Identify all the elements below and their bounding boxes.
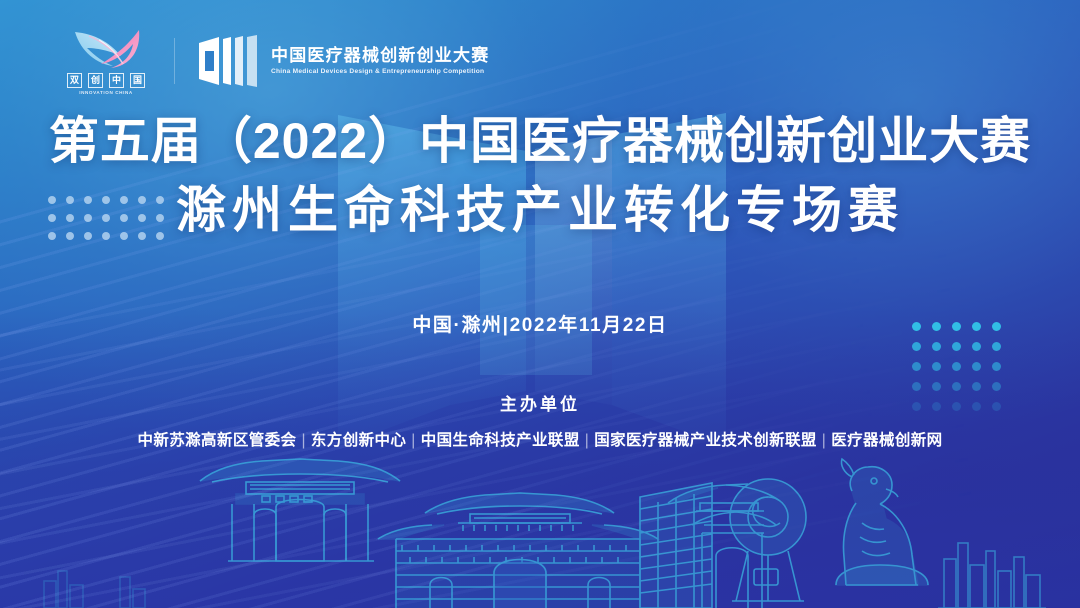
competition-logo: 中国医疗器械创新创业大赛 China Medical Devices Desig… [197,35,489,87]
event-date-location: 中国·滁州|2022年11月22日 [0,310,1080,337]
chinese-archway [668,484,780,608]
organizer-item: 中新苏滁高新区管委会 [137,432,296,449]
city-skyline-illustration [0,433,1080,608]
grid-dot [932,342,941,351]
grid-dot [912,362,921,371]
grid-dot [972,342,981,351]
innovation-china-en: INNOVATION CHINA [79,90,133,95]
chinese-city-gate [378,493,658,608]
competition-en-title: China Medical Devices Design & Entrepren… [271,68,489,75]
background-shade-bottom [0,308,1080,608]
organizer-item: 国家医疗器械产业技术创新联盟 [594,432,817,449]
competition-logo-text: 中国医疗器械创新创业大赛 China Medical Devices Desig… [271,46,489,75]
organizer-separator: | [406,432,420,449]
grid-dot [912,342,921,351]
grid-dot [952,342,961,351]
title-line-2: 滁州生命科技产业转化专场赛 [0,181,1080,240]
innovation-china-logo: 双 创 中 国 INNOVATION CHINA [60,26,152,95]
organizers-list: 中新苏滁高新区管委会|东方创新中心|中国生命科技产业联盟|国家医疗器械产业技术创… [0,428,1080,450]
poster-header: 双 创 中 国 INNOVATION CHINA 中国医疗器械创新创业大赛 Ch… [60,26,489,95]
phoenix-bird-icon [69,26,143,70]
logo-char-2: 中 [109,73,124,88]
grid-dot [932,362,941,371]
logo-char-1: 创 [88,73,103,88]
organizer-item: 医疗器械创新网 [831,432,942,449]
chinese-pavilion-gate [200,459,400,561]
header-divider [174,38,175,84]
merlion-statue [836,459,928,585]
organizer-item: 中国生命科技产业联盟 [421,432,580,449]
poster-title-block: 第五届（2022）中国医疗器械创新创业大赛 滁州生命科技产业转化专场赛 [0,112,1080,240]
logo-char-0: 双 [67,73,82,88]
grid-dot [992,342,1001,351]
city-skyline-buildings-left [44,571,145,608]
event-poster: 双 创 中 国 INNOVATION CHINA 中国医疗器械创新创业大赛 Ch… [0,0,1080,608]
ring-sculpture [730,479,806,601]
grid-dot [992,362,1001,371]
city-skyline-buildings [938,543,1046,608]
organizer-separator: | [580,432,594,449]
organizer-separator: | [817,432,831,449]
grid-dot [952,362,961,371]
grid-dot [972,362,981,371]
innovation-china-cn-chars: 双 创 中 国 [67,73,145,88]
competition-cn-title: 中国医疗器械创新创业大赛 [271,46,489,66]
dot-grid-row [912,342,1012,351]
dot-grid-row [912,362,1012,371]
organizer-separator: | [296,432,310,449]
title-line-1: 第五届（2022）中国医疗器械创新创业大赛 [0,112,1080,171]
modern-office-tower [640,483,712,608]
organizers-heading: 主办单位 [0,390,1080,415]
organizer-item: 东方创新中心 [311,432,406,449]
logo-char-3: 国 [130,73,145,88]
open-door-icon [197,35,259,87]
